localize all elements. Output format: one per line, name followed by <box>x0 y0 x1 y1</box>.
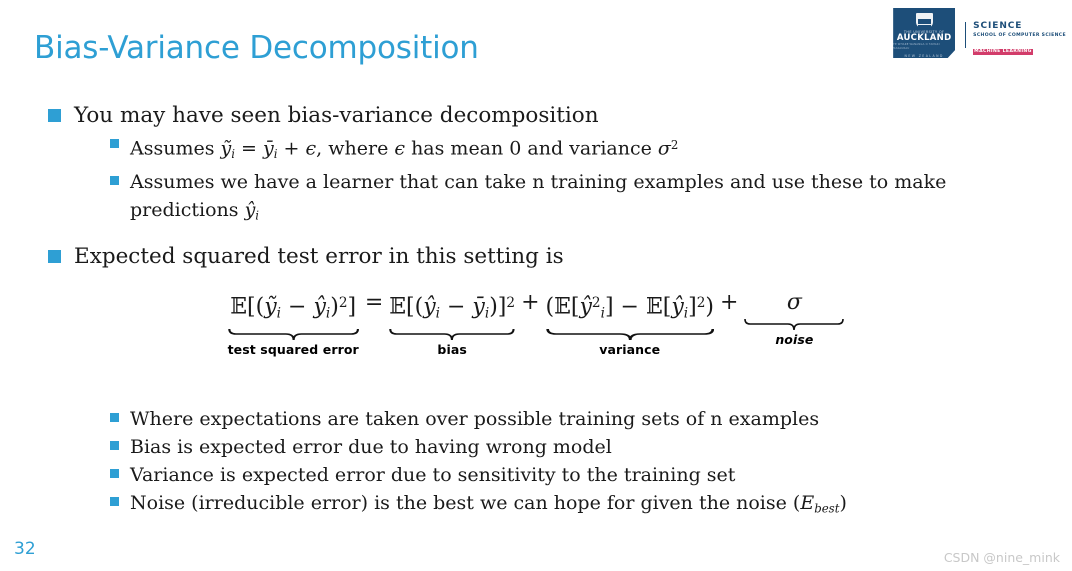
bullet-text: Variance is expected error due to sensit… <box>130 461 735 489</box>
bullet-text: Expected squared test error in this sett… <box>74 241 564 272</box>
bullet-square-icon <box>110 441 119 450</box>
watermark: CSDN @nine_mink <box>944 550 1060 565</box>
auckland-shield-icon: THE UNIVERSITY OF AUCKLAND TE WHARE WANA… <box>893 8 955 58</box>
slide-body: You may have seen bias-variance decompos… <box>0 100 1072 272</box>
bullet-level2: Noise (irreducible error) is the best we… <box>110 489 1072 522</box>
bullet-level2: Bias is expected error due to having wro… <box>110 433 1072 461</box>
logo-faculty: SCIENCE <box>973 22 1066 31</box>
bullet-level2: Assumes ỹi = ȳi + ϵ, where ϵ has mean 0 … <box>110 131 1072 168</box>
logo-school: SCHOOL OF COMPUTER SCIENCE <box>973 34 1066 39</box>
shield-line4: NEW ZEALAND <box>905 54 944 58</box>
term-label: variance <box>599 342 660 357</box>
slide-body-lower: Where expectations are taken over possib… <box>0 405 1072 522</box>
bullet-square-icon <box>110 497 119 506</box>
bullet-text-assumes-learner: Assumes we have a learner that can take … <box>130 168 946 229</box>
logo-text-block: SCIENCE SCHOOL OF COMPUTER SCIENCE MACHI… <box>973 22 1066 55</box>
bullet-text-assumes-noise: Assumes ỹi = ȳi + ϵ, where ϵ has mean 0 … <box>130 131 678 168</box>
term-expression: σ <box>787 288 802 318</box>
underbrace-icon <box>546 328 714 341</box>
term-expression: 𝔼[(ỹi − ŷi)2] <box>230 288 356 328</box>
bullet-text: Where expectations are taken over possib… <box>130 405 819 433</box>
spacer <box>0 229 1072 241</box>
equation-row: 𝔼[(ỹi − ŷi)2] test squared error = 𝔼[(ŷi… <box>228 288 845 357</box>
logo-divider <box>965 22 966 48</box>
bullet-square-icon <box>48 109 61 122</box>
page-number: 32 <box>14 539 36 559</box>
term-noise: σ noise <box>744 288 844 347</box>
underbrace-icon <box>744 318 844 331</box>
bullet-text: Bias is expected error due to having wro… <box>130 433 612 461</box>
term-label: noise <box>775 332 813 347</box>
term-expression: 𝔼[(ŷi − ȳi)]2 <box>389 288 515 328</box>
university-logo: THE UNIVERSITY OF AUCKLAND TE WHARE WANA… <box>893 8 1066 58</box>
underbrace-icon <box>389 328 515 341</box>
term-variance: (𝔼[ŷ2i] − 𝔼[ŷi]2) variance <box>546 288 714 357</box>
bullet-level1: You may have seen bias-variance decompos… <box>48 100 1072 131</box>
bullet-square-icon <box>110 176 119 185</box>
bullet-square-icon <box>110 139 119 148</box>
plus-sign: + <box>714 288 744 318</box>
bullet-square-icon <box>110 469 119 478</box>
plus-sign: + <box>515 288 545 318</box>
bullet-level1: Expected squared test error in this sett… <box>48 241 1072 272</box>
shield-line3: TE WHARE WANANGA O TAMAKI MAKAURAU <box>893 43 955 51</box>
underbrace-icon <box>228 328 359 341</box>
shield-line2: AUCKLAND <box>897 34 952 43</box>
shield-line1: THE UNIVERSITY OF <box>904 30 944 34</box>
bullet-text: You may have seen bias-variance decompos… <box>74 100 599 131</box>
bullet-text-noise: Noise (irreducible error) is the best we… <box>130 489 847 522</box>
bullet-square-icon <box>110 413 119 422</box>
bullet-level2: Assumes we have a learner that can take … <box>110 168 1072 229</box>
bullet-level2: Where expectations are taken over possib… <box>110 405 1072 433</box>
term-label: bias <box>437 342 467 357</box>
term-expression: (𝔼[ŷ2i] − 𝔼[ŷi]2) <box>546 288 714 328</box>
bullet-level2: Variance is expected error due to sensit… <box>110 461 1072 489</box>
crest-icon <box>916 13 933 28</box>
bias-variance-equation: 𝔼[(ỹi − ŷi)2] test squared error = 𝔼[(ŷi… <box>0 288 1072 357</box>
logo-group: MACHINE LEARNING <box>973 49 1033 55</box>
term-label: test squared error <box>228 342 359 357</box>
term-test-squared-error: 𝔼[(ỹi − ŷi)2] test squared error <box>228 288 359 357</box>
bullet-square-icon <box>48 250 61 263</box>
page-title: Bias-Variance Decomposition <box>34 30 479 66</box>
equals-sign: = <box>359 288 389 318</box>
term-bias: 𝔼[(ŷi − ȳi)]2 bias <box>389 288 515 357</box>
